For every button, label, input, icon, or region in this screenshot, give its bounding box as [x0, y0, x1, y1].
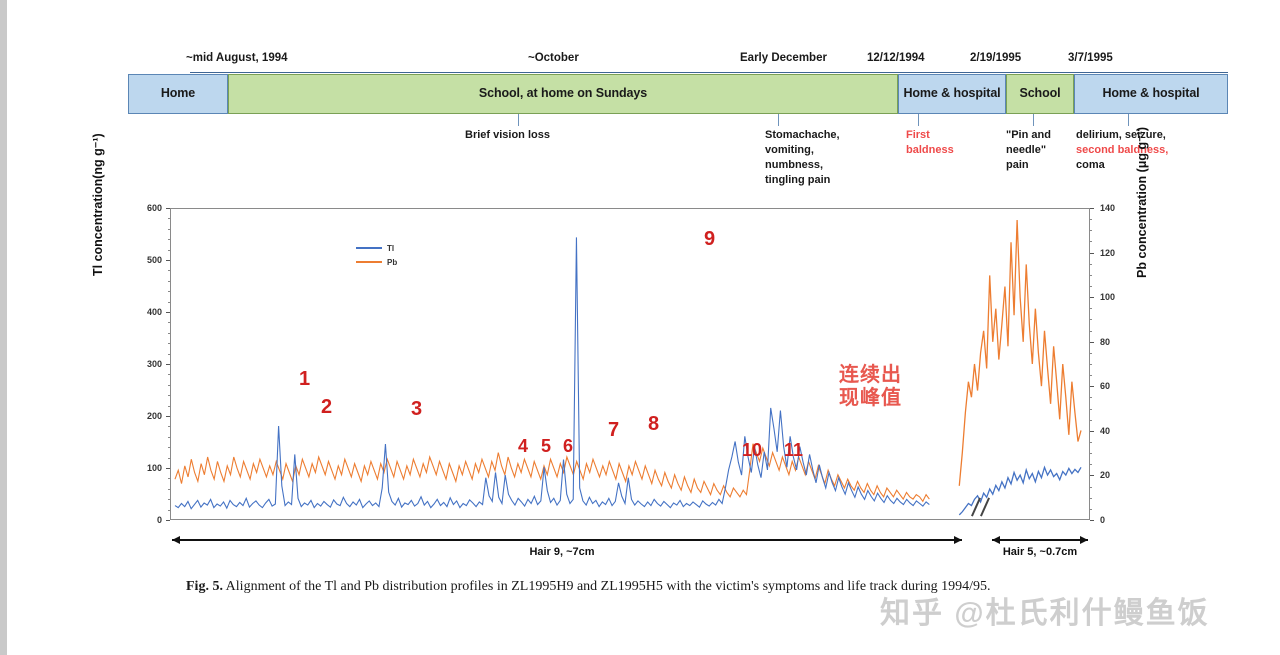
timeline-tick-first-baldness [918, 114, 919, 126]
y-tick-left-600: 600 [128, 203, 162, 213]
timeline-segment-home: Home [128, 74, 228, 114]
y-tick-left-400: 400 [128, 307, 162, 317]
peak-label-5: 5 [541, 437, 551, 455]
chinese-annotation: 连续出 现峰值 [839, 364, 902, 410]
plot-area: Tl Pb 1 2 3 4 5 6 7 8 9 10 11 连续出 现峰值 [170, 208, 1090, 520]
y-tick-right-0: 0 [1100, 515, 1134, 525]
timeline-segment-home-hospital-1: Home & hospital [898, 74, 1006, 114]
timeline-segment-school: School [1006, 74, 1074, 114]
timeline-note-stomachache: Stomachache, vomiting, numbness, tinglin… [765, 128, 840, 187]
timeline-segment-school-sundays: School, at home on Sundays [228, 74, 898, 114]
y-tick-right-120: 120 [1100, 248, 1134, 258]
page-gutter [0, 0, 7, 655]
timeline-note-first-baldness: First baldness [906, 128, 954, 158]
y-tick-left-100: 100 [128, 463, 162, 473]
pb-line-hair9 [175, 444, 929, 502]
timeline-note-vision-loss: Brief vision loss [465, 128, 550, 143]
legend-label-tl: Tl [387, 244, 394, 253]
y-tick-left-0: 0 [128, 515, 162, 525]
timeline-date-2: Early December [740, 52, 827, 64]
y-tick-right-20: 20 [1100, 470, 1134, 480]
timeline-date-3: 12/12/1994 [867, 52, 925, 64]
watermark: 知乎 @杜氏利什鳗鱼饭 [880, 588, 1210, 632]
y-axis-right-label: Pb concentration (μg g⁻¹) [1134, 127, 1149, 278]
timeline-tick-vision-loss [518, 114, 519, 126]
peak-label-9: 9 [704, 229, 715, 249]
tl-line-hair5 [959, 467, 1081, 515]
hair9-range-label: Hair 9, ~7cm [412, 546, 712, 558]
timeline-tick-delirium [1128, 114, 1129, 126]
legend-item-tl: Tl [356, 241, 397, 255]
timeline-date-5: 3/7/1995 [1068, 52, 1113, 64]
y-tick-right-140: 140 [1100, 203, 1134, 213]
timeline-date-1: ~October [528, 52, 579, 64]
figure-root: ~mid August, 1994 ~October Early Decembe… [0, 0, 1280, 655]
legend-swatch-tl [356, 247, 382, 250]
legend-label-pb: Pb [387, 258, 397, 267]
y-tick-left-200: 200 [128, 411, 162, 421]
timeline-tick-pin-needle [1033, 114, 1034, 126]
hair9-range-arrow [172, 534, 962, 546]
timeline: ~mid August, 1994 ~October Early Decembe… [128, 74, 1228, 114]
timeline-date-4: 2/19/1995 [970, 52, 1021, 64]
hair5-range-arrow [992, 534, 1088, 546]
y-tick-right-100: 100 [1100, 292, 1134, 302]
timeline-top-rule [190, 72, 1228, 73]
y-tick-right-60: 60 [1100, 381, 1134, 391]
caption-prefix: Fig. 5. [186, 579, 223, 594]
chart: Tl concentration(ng g⁻¹) Pb concentratio… [112, 198, 1142, 538]
peak-label-10: 10 [742, 441, 762, 459]
timeline-note-coma: coma [1076, 158, 1105, 173]
peak-label-4: 4 [518, 437, 528, 455]
peak-label-6: 6 [563, 437, 573, 455]
timeline-tick-stomachache [778, 114, 779, 126]
peak-label-11: 11 [784, 441, 803, 459]
y-tick-left-300: 300 [128, 359, 162, 369]
timeline-note-pin-needle: "Pin and needle" pain [1006, 128, 1051, 173]
y-axis-left-label: Tl concentration(ng g⁻¹) [90, 133, 105, 276]
legend-swatch-pb [356, 261, 382, 264]
y-tick-right-40: 40 [1100, 426, 1134, 436]
y-tick-left-500: 500 [128, 255, 162, 265]
timeline-note-delirium: delirium, seizure, [1076, 128, 1166, 143]
caption-body: Alignment of the Tl and Pb distribution … [223, 579, 991, 594]
pb-line-hair5 [959, 220, 1081, 486]
legend: Tl Pb [356, 241, 397, 269]
peak-label-7: 7 [608, 420, 619, 440]
hair5-range-label: Hair 5, ~0.7cm [970, 546, 1110, 558]
y-tick-right-80: 80 [1100, 337, 1134, 347]
peak-label-1: 1 [299, 369, 310, 389]
timeline-segment-home-hospital-2: Home & hospital [1074, 74, 1228, 114]
series-canvas [171, 209, 1089, 519]
legend-item-pb: Pb [356, 255, 397, 269]
peak-label-3: 3 [411, 399, 422, 419]
timeline-date-0: ~mid August, 1994 [186, 52, 288, 64]
peak-label-2: 2 [321, 397, 332, 417]
peak-label-8: 8 [648, 414, 659, 434]
timeline-note-second-baldness: second baldness, [1076, 143, 1168, 158]
